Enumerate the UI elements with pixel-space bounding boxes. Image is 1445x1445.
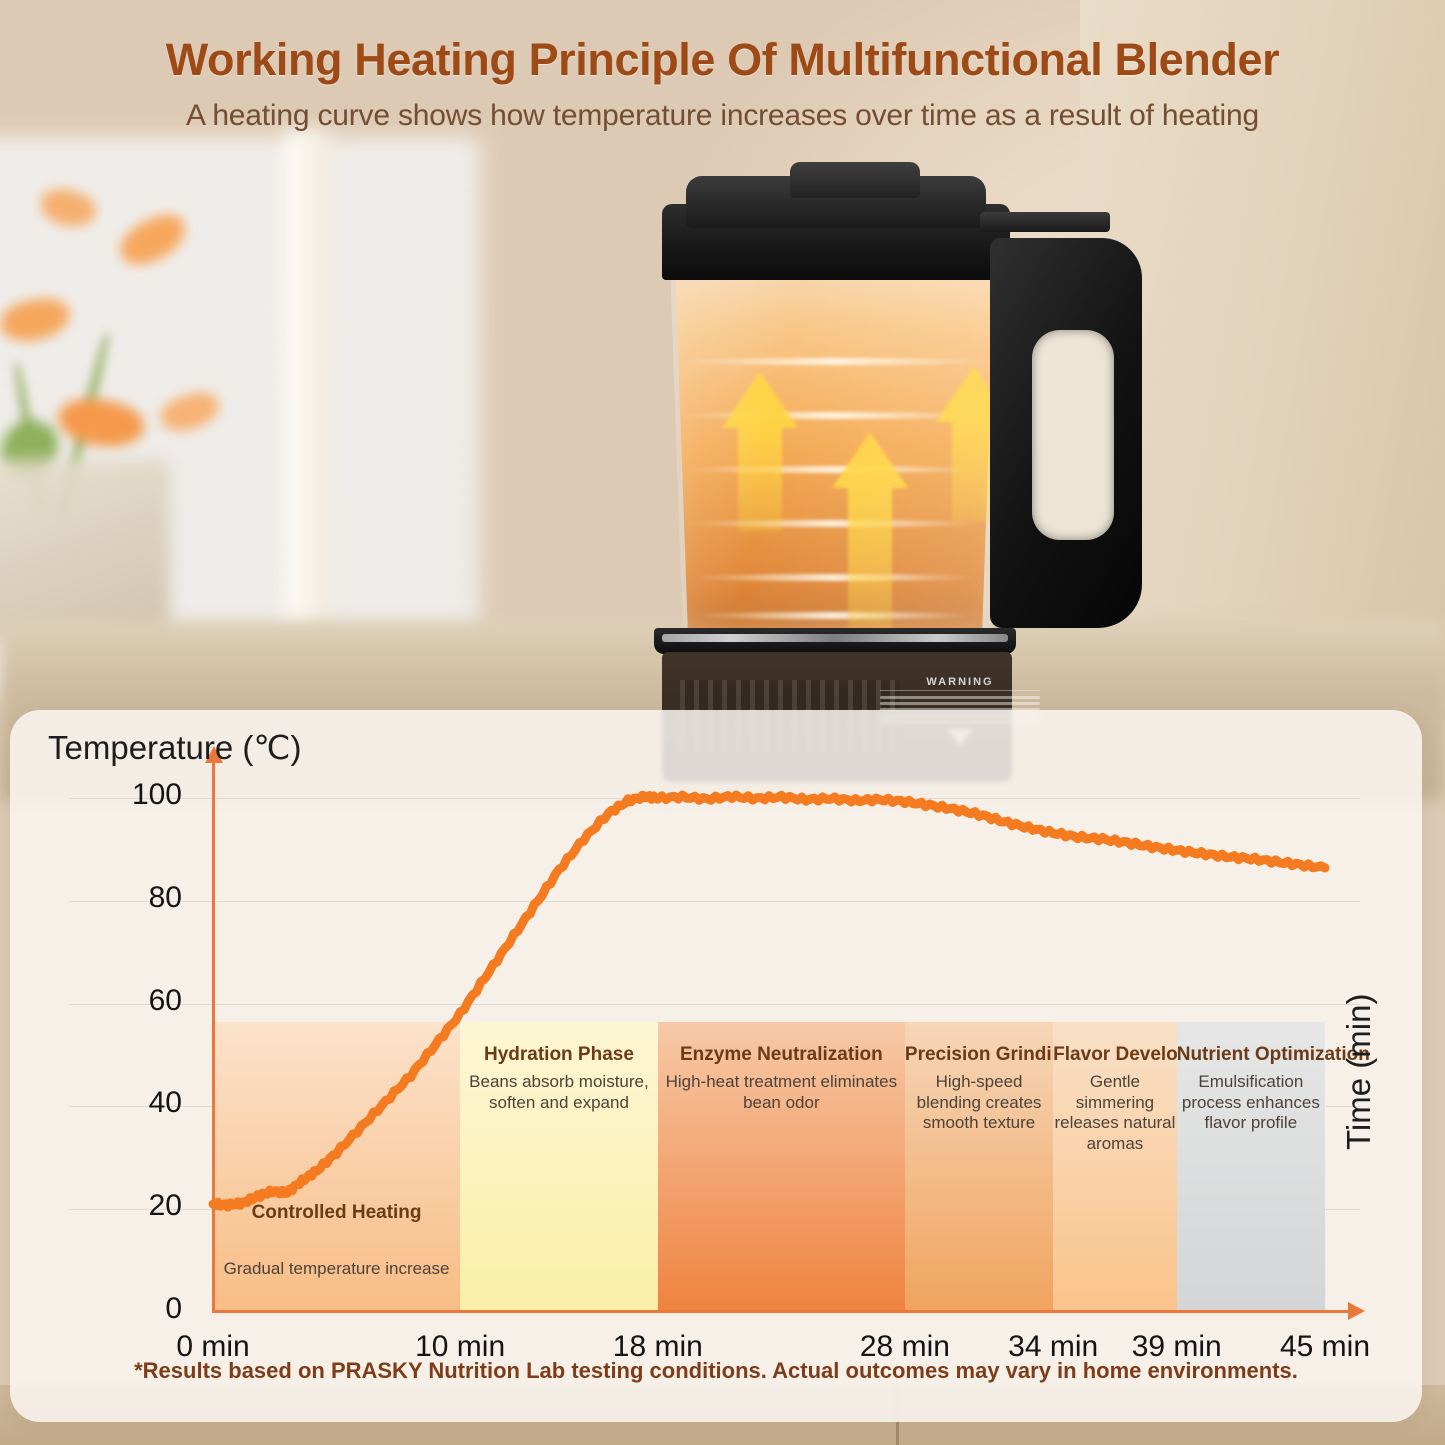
- heating-curve-line: [10, 710, 1422, 1422]
- blender-product-image: WARNING: [640, 160, 1160, 720]
- blender-handle-opening: [1032, 330, 1114, 540]
- page-title: Working Heating Principle Of Multifuncti…: [0, 0, 1445, 86]
- header: Working Heating Principle Of Multifuncti…: [0, 0, 1445, 162]
- page-subtitle: A heating curve shows how temperature in…: [0, 86, 1445, 133]
- blender-lid-shelf: [980, 212, 1110, 232]
- blender-jar-glass: [654, 222, 1020, 646]
- chart-plot-area: Controlled HeatingGradual temperature in…: [10, 710, 1422, 1422]
- blender-collar-chrome-trim: [662, 634, 1008, 642]
- warning-label-title: WARNING: [880, 676, 1040, 691]
- blender-lid-knob: [790, 162, 920, 198]
- chart-footnote: *Results based on PRASKY Nutrition Lab t…: [10, 1358, 1422, 1384]
- chart-panel: Controlled HeatingGradual temperature in…: [10, 710, 1422, 1422]
- infographic-stage: Working Heating Principle Of Multifuncti…: [0, 0, 1445, 1445]
- flower-pot: [0, 460, 170, 640]
